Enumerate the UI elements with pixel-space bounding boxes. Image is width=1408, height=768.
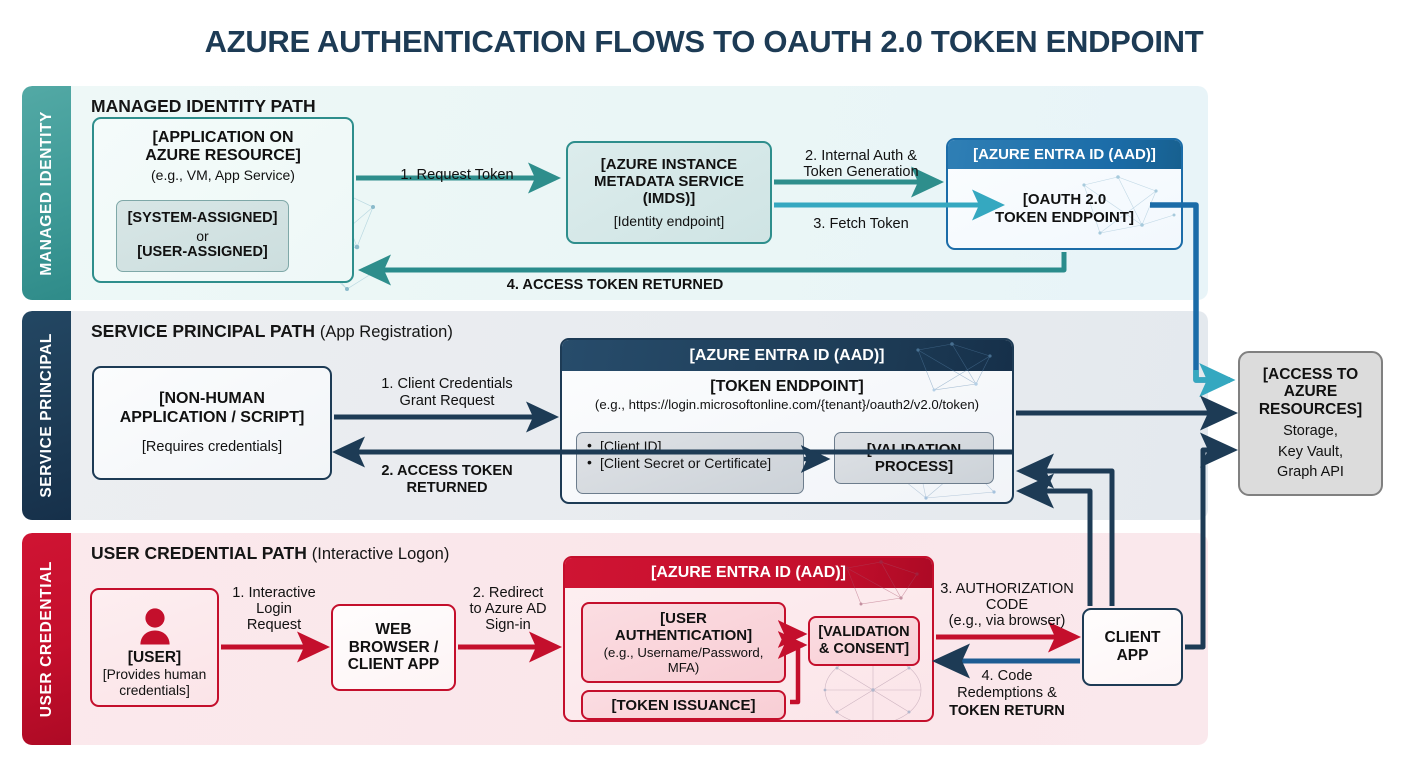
credentials-list: [Client ID] [Client Secret or Certificat… bbox=[587, 438, 803, 471]
box-validation-and-consent[interactable]: [VALIDATION & CONSENT] bbox=[808, 616, 920, 666]
rail-managed-identity: MANAGED IDENTITY bbox=[22, 86, 71, 300]
oauth-endpoint-line1: [OAUTH 2.0 bbox=[995, 191, 1134, 208]
label-sp-step1-line2: Grant Request bbox=[349, 393, 545, 410]
rail-label: SERVICE PRINCIPAL bbox=[38, 333, 56, 498]
rail-label: MANAGED IDENTITY bbox=[38, 111, 56, 276]
label-step4-access-token-returned: 4. ACCESS TOKEN RETURNED bbox=[440, 277, 790, 294]
user-auth-line1: [USER bbox=[660, 610, 707, 627]
list-item: [Client ID] bbox=[587, 438, 803, 455]
resources-item-line1: Storage, bbox=[1283, 423, 1338, 440]
browser-line1: WEB bbox=[375, 621, 411, 639]
resources-item-line3: Graph API bbox=[1277, 464, 1344, 481]
aad-row3-header: [AZURE ENTRA ID (AAD)] bbox=[565, 558, 932, 588]
box-azure-entra-id-row1[interactable]: [AZURE ENTRA ID (AAD)] [OAUTH 2.0 TOKEN … bbox=[946, 138, 1183, 250]
label-sp-step2-line2: RETURNED bbox=[349, 480, 545, 497]
aad-row1-body: [OAUTH 2.0 TOKEN ENDPOINT] bbox=[948, 169, 1181, 248]
token-endpoint-label: [TOKEN ENDPOINT] bbox=[562, 378, 1012, 396]
box-user-authentication[interactable]: [USER AUTHENTICATION] (e.g., Username/Pa… bbox=[581, 602, 786, 683]
label-uc-step1-line3: Request bbox=[222, 617, 326, 634]
band-title-text: USER CREDENTIAL PATH bbox=[91, 543, 307, 563]
box-azure-entra-id-row3[interactable]: [AZURE ENTRA ID (AAD)] [USER AUTHENTICAT… bbox=[563, 556, 934, 722]
band-subtitle-text: (App Registration) bbox=[320, 323, 453, 341]
label-step2-internal-auth-line1: 2. Internal Auth & bbox=[786, 148, 936, 165]
user-label: [USER] bbox=[128, 649, 181, 667]
validation-consent-line1: [VALIDATION bbox=[818, 624, 909, 641]
imds-note: [Identity endpoint] bbox=[614, 213, 725, 229]
app-box-line2: AZURE RESOURCE] bbox=[145, 147, 301, 165]
label-uc-step2-line1: 2. Redirect bbox=[458, 585, 558, 602]
label-uc-step3-line2: CODE bbox=[930, 597, 1084, 614]
imds-line2: METADATA SERVICE bbox=[594, 173, 744, 190]
label-step3-fetch-token: 3. Fetch Token bbox=[786, 216, 936, 233]
label-step2-internal-auth-line2: Token Generation bbox=[786, 164, 936, 181]
list-item: [Client Secret or Certificate] bbox=[587, 455, 803, 472]
box-validation-process[interactable]: [VALIDATION PROCESS] bbox=[834, 432, 994, 484]
user-auth-note-line2: MFA) bbox=[668, 660, 700, 675]
nonhuman-line1: [NON-HUMAN bbox=[159, 390, 265, 408]
label-uc-step1-line2: Login bbox=[222, 601, 326, 618]
client-app-line1: CLIENT bbox=[1105, 629, 1161, 647]
user-auth-line2: AUTHENTICATION] bbox=[615, 627, 752, 644]
resources-line2: AZURE bbox=[1284, 383, 1337, 401]
rail-service-principal: SERVICE PRINCIPAL bbox=[22, 311, 71, 520]
token-endpoint-url: (e.g., https://login.microsoftonline.com… bbox=[562, 397, 1012, 412]
band-title-text: MANAGED IDENTITY PATH bbox=[91, 96, 316, 116]
band-title-managed-identity: MANAGED IDENTITY PATH bbox=[91, 96, 316, 117]
validation-process-line1: [VALIDATION bbox=[867, 441, 961, 458]
rail-user-credential: USER CREDENTIAL bbox=[22, 533, 71, 745]
box-access-to-azure-resources[interactable]: [ACCESS TO AZURE RESOURCES] Storage, Key… bbox=[1238, 351, 1383, 496]
user-note-line2: credentials] bbox=[119, 683, 190, 699]
label-uc-step2-line3: Sign-in bbox=[458, 617, 558, 634]
oauth-endpoint-line2: TOKEN ENDPOINT] bbox=[995, 209, 1134, 226]
box-token-issuance[interactable]: [TOKEN ISSUANCE] bbox=[581, 690, 786, 720]
box-web-browser-client-app[interactable]: WEB BROWSER / CLIENT APP bbox=[331, 604, 456, 691]
box-client-app[interactable]: CLIENT APP bbox=[1082, 608, 1183, 686]
browser-line2: BROWSER / bbox=[349, 639, 439, 657]
label-uc-step1-line1: 1. Interactive bbox=[222, 585, 326, 602]
label-sp-step2-line1: 2. ACCESS TOKEN bbox=[349, 463, 545, 480]
label-uc-step2-line2: to Azure AD bbox=[458, 601, 558, 618]
resources-line3: RESOURCES] bbox=[1259, 401, 1362, 419]
label-uc-step4-line2: Redemptions & bbox=[930, 685, 1084, 702]
browser-line3: CLIENT APP bbox=[348, 656, 440, 674]
band-title-service-principal: SERVICE PRINCIPAL PATH (App Registration… bbox=[91, 321, 453, 342]
box-non-human-application[interactable]: [NON-HUMAN APPLICATION / SCRIPT] [Requir… bbox=[92, 366, 332, 480]
diagram-canvas: AZURE AUTHENTICATION FLOWS TO OAUTH 2.0 … bbox=[0, 0, 1408, 768]
label-step1-request-token: 1. Request Token bbox=[368, 167, 546, 184]
user-assigned-label: [USER-ASSIGNED] bbox=[137, 244, 268, 261]
client-app-line2: APP bbox=[1117, 647, 1149, 665]
rail-label: USER CREDENTIAL bbox=[38, 561, 56, 717]
nonhuman-note: [Requires credentials] bbox=[142, 439, 282, 456]
nonhuman-line2: APPLICATION / SCRIPT] bbox=[120, 409, 305, 427]
imds-line1: [AZURE INSTANCE bbox=[601, 156, 737, 173]
box-user[interactable]: [USER] [Provides human credentials] bbox=[90, 588, 219, 707]
band-title-text: SERVICE PRINCIPAL PATH bbox=[91, 321, 315, 341]
aad-row2-header: [AZURE ENTRA ID (AAD)] bbox=[562, 340, 1012, 371]
resources-item-line2: Key Vault, bbox=[1278, 444, 1343, 461]
user-icon bbox=[136, 607, 174, 647]
box-application-on-azure-resource[interactable]: [APPLICATION ON AZURE RESOURCE] (e.g., V… bbox=[92, 117, 354, 283]
resources-line1: [ACCESS TO bbox=[1263, 366, 1358, 384]
validation-consent-line2: & CONSENT] bbox=[818, 641, 909, 658]
user-note-line1: [Provides human bbox=[103, 667, 207, 683]
box-azure-instance-metadata-service[interactable]: [AZURE INSTANCE METADATA SERVICE (IMDS)]… bbox=[566, 141, 772, 244]
app-box-line1: [APPLICATION ON bbox=[152, 129, 293, 147]
or-label: or bbox=[196, 228, 208, 245]
system-assigned-label: [SYSTEM-ASSIGNED] bbox=[128, 210, 278, 227]
app-box-note: (e.g., VM, App Service) bbox=[151, 167, 295, 183]
label-uc-step4-line3: TOKEN RETURN bbox=[930, 703, 1084, 720]
label-uc-step3-line1: 3. AUTHORIZATION bbox=[930, 581, 1084, 598]
label-uc-step3-line3: (e.g., via browser) bbox=[930, 613, 1084, 630]
box-client-credentials[interactable]: [Client ID] [Client Secret or Certificat… bbox=[576, 432, 804, 494]
aad-row1-header: [AZURE ENTRA ID (AAD)] bbox=[948, 140, 1181, 169]
band-subtitle-text: (Interactive Logon) bbox=[312, 545, 450, 563]
imds-line3: (IMDS)] bbox=[643, 190, 696, 207]
page-title: AZURE AUTHENTICATION FLOWS TO OAUTH 2.0 … bbox=[0, 24, 1408, 60]
band-title-user-credential: USER CREDENTIAL PATH (Interactive Logon) bbox=[91, 543, 449, 564]
validation-process-line2: PROCESS] bbox=[867, 458, 961, 475]
box-azure-entra-id-row2[interactable]: [AZURE ENTRA ID (AAD)] [TOKEN ENDPOINT] … bbox=[560, 338, 1014, 504]
label-uc-step4-line1: 4. Code bbox=[930, 668, 1084, 685]
box-managed-identity-assignment[interactable]: [SYSTEM-ASSIGNED] or [USER-ASSIGNED] bbox=[116, 200, 289, 272]
label-sp-step1-line1: 1. Client Credentials bbox=[349, 376, 545, 393]
user-auth-note-line1: (e.g., Username/Password, bbox=[604, 645, 764, 660]
